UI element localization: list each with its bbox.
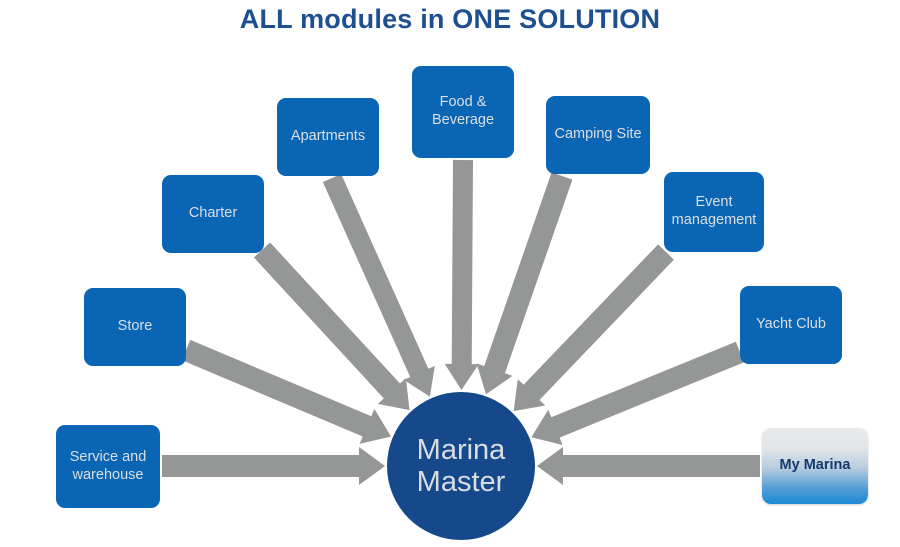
module-box-yacht-club[interactable]: Yacht Club — [740, 286, 842, 364]
module-box-food-and-beverage[interactable]: Food & Beverage — [412, 66, 514, 158]
module-box-my-marina[interactable]: My Marina — [762, 428, 868, 504]
module-box-apartments[interactable]: Apartments — [277, 98, 379, 176]
diagram-canvas: ALL modules in ONE SOLUTION Service and … — [0, 0, 900, 547]
module-box-camping-site[interactable]: Camping Site — [546, 96, 650, 174]
arrow-service-and-warehouse-to-marina-master — [162, 447, 385, 485]
hub-marina-master[interactable]: Marina Master — [387, 392, 535, 540]
arrow-my-marina-to-marina-master — [537, 447, 760, 485]
module-box-event-management[interactable]: Event management — [664, 172, 764, 252]
module-box-store[interactable]: Store — [84, 288, 186, 366]
module-box-service-and-warehouse[interactable]: Service and warehouse — [56, 425, 160, 508]
module-box-charter[interactable]: Charter — [162, 175, 264, 253]
arrow-food-and-beverage-to-marina-master — [445, 160, 479, 390]
